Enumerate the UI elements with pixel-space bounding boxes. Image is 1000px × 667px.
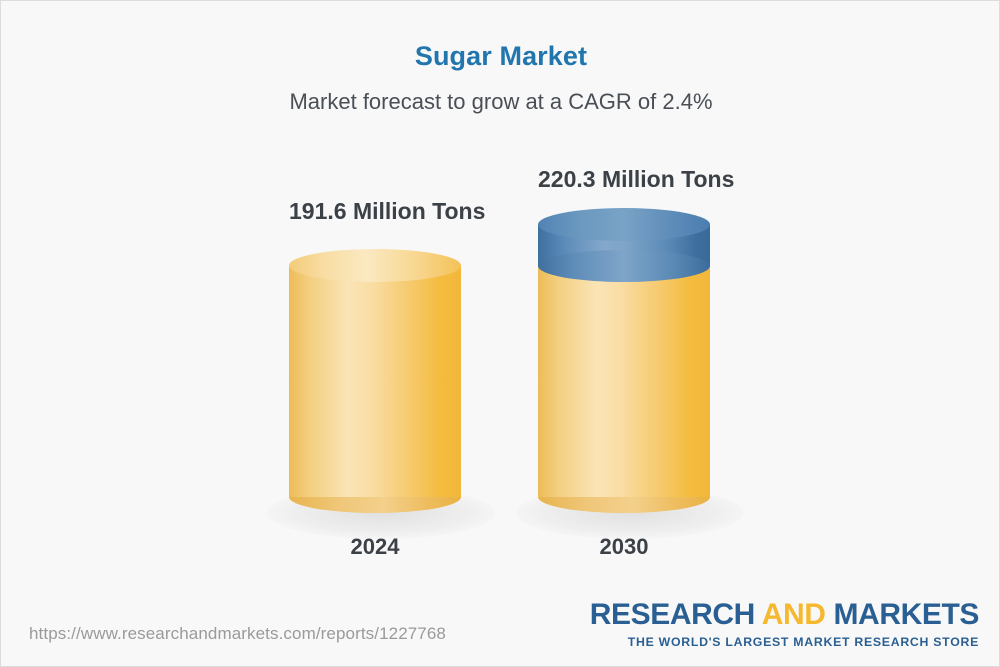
bar-category-label-2024: 2024 <box>289 534 461 560</box>
bar-category-label-2030: 2030 <box>538 534 710 560</box>
cylinder-base-body-2024 <box>289 265 461 497</box>
bar-value-label-2030: 220.3 Million Tons <box>538 166 710 193</box>
brand-tagline: THE WORLD'S LARGEST MARKET RESEARCH STOR… <box>590 636 979 648</box>
brand-wordmark-part2: MARKETS <box>826 598 979 631</box>
cylinder-base-top-2024 <box>289 249 461 282</box>
brand-wordmark-part1: RESEARCH <box>590 598 762 631</box>
bar-group-2030: 220.3 Million Tons 2030 <box>538 1 710 601</box>
source-url[interactable]: https://www.researchandmarkets.com/repor… <box>29 624 446 644</box>
brand-wordmark: RESEARCH AND MARKETS <box>590 600 979 630</box>
cylinder-base-body-2030 <box>538 264 710 497</box>
cylinder-growth-bottom-cap-2030 <box>538 250 710 282</box>
bar-group-2024: 191.6 Million Tons 2024 <box>289 1 461 601</box>
bar-value-label-2024: 191.6 Million Tons <box>289 198 461 225</box>
brand-wordmark-and: AND <box>762 598 826 631</box>
chart-figure: Sugar Market Market forecast to grow at … <box>0 0 1000 667</box>
cylinder-2030[interactable] <box>538 208 710 513</box>
brand-logo: RESEARCH AND MARKETS THE WORLD'S LARGEST… <box>590 600 979 648</box>
cylinder-2024[interactable] <box>289 249 461 513</box>
cylinder-growth-top-2030 <box>538 208 710 241</box>
plot-area: 191.6 Million Tons 2024 220.3 Million To… <box>1 1 1000 601</box>
